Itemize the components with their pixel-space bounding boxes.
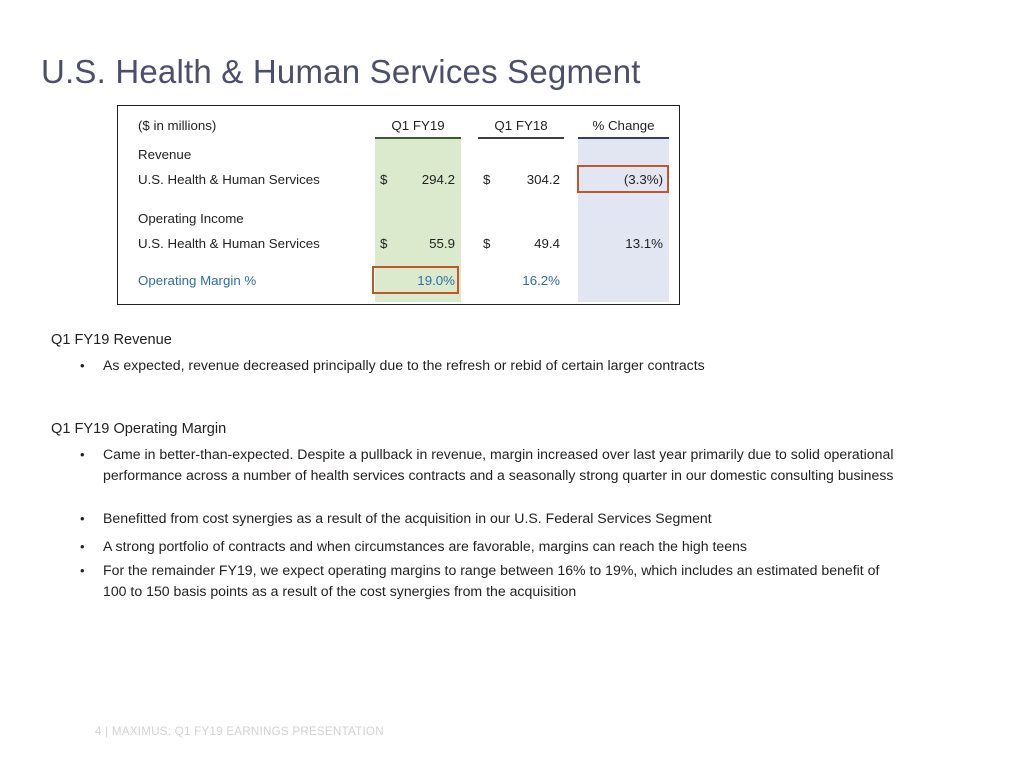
table-row-label: U.S. Health & Human Services <box>138 236 320 251</box>
cell-fy19-value: 55.9 <box>375 236 455 251</box>
change-header-rule <box>578 137 669 139</box>
list-item: • For the remainder FY19, we expect oper… <box>76 560 904 602</box>
change-column-band <box>578 139 669 302</box>
list-item: • Benefitted from cost synergies as a re… <box>76 508 896 529</box>
table-row-label: Operating Income <box>138 211 244 226</box>
section-heading-revenue: Q1 FY19 Revenue <box>51 331 172 349</box>
bullet-icon: • <box>76 444 103 465</box>
list-item: • As expected, revenue decreased princip… <box>76 355 896 376</box>
list-item-text: As expected, revenue decreased principal… <box>103 355 705 376</box>
cell-fy19-value: 294.2 <box>375 172 455 187</box>
cell-fy18-value: 49.4 <box>478 236 560 251</box>
column-header-change: % Change <box>578 118 669 133</box>
bullet-icon: • <box>76 536 103 557</box>
page-title: U.S. Health & Human Services Segment <box>41 52 641 92</box>
financial-table: ($ in millions) Q1 FY19 Q1 FY18 % Change… <box>117 105 680 305</box>
list-item: • A strong portfolio of contracts and wh… <box>76 536 906 557</box>
fy19-header-rule <box>375 137 461 139</box>
table-row-label: U.S. Health & Human Services <box>138 172 320 187</box>
list-item: • Came in better-than-expected. Despite … <box>76 444 896 486</box>
bullet-icon: • <box>76 508 103 529</box>
fy18-header-rule <box>478 137 564 139</box>
column-header-fy19: Q1 FY19 <box>375 118 461 133</box>
cell-fy18-value: 304.2 <box>478 172 560 187</box>
bullet-icon: • <box>76 560 103 581</box>
cell-fy19-operating-margin: 19.0% <box>375 273 455 288</box>
bullet-icon: • <box>76 355 103 376</box>
slide-footer: 4 | MAXIMUS: Q1 FY19 EARNINGS PRESENTATI… <box>95 725 384 738</box>
list-item-text: Benefitted from cost synergies as a resu… <box>103 508 712 529</box>
column-header-fy18: Q1 FY18 <box>478 118 564 133</box>
cell-change-value: 13.1% <box>578 236 663 251</box>
table-row-label-operating-margin: Operating Margin % <box>138 273 256 288</box>
table-row-label: Revenue <box>138 147 191 162</box>
list-item-text: A strong portfolio of contracts and when… <box>103 536 747 557</box>
cell-fy18-operating-margin: 16.2% <box>478 273 560 288</box>
unit-label: ($ in millions) <box>138 118 216 133</box>
cell-change-value: (3.3%) <box>578 172 663 187</box>
section-heading-operating-margin: Q1 FY19 Operating Margin <box>51 420 226 438</box>
list-item-text: For the remainder FY19, we expect operat… <box>103 560 904 602</box>
list-item-text: Came in better-than-expected. Despite a … <box>103 444 896 486</box>
